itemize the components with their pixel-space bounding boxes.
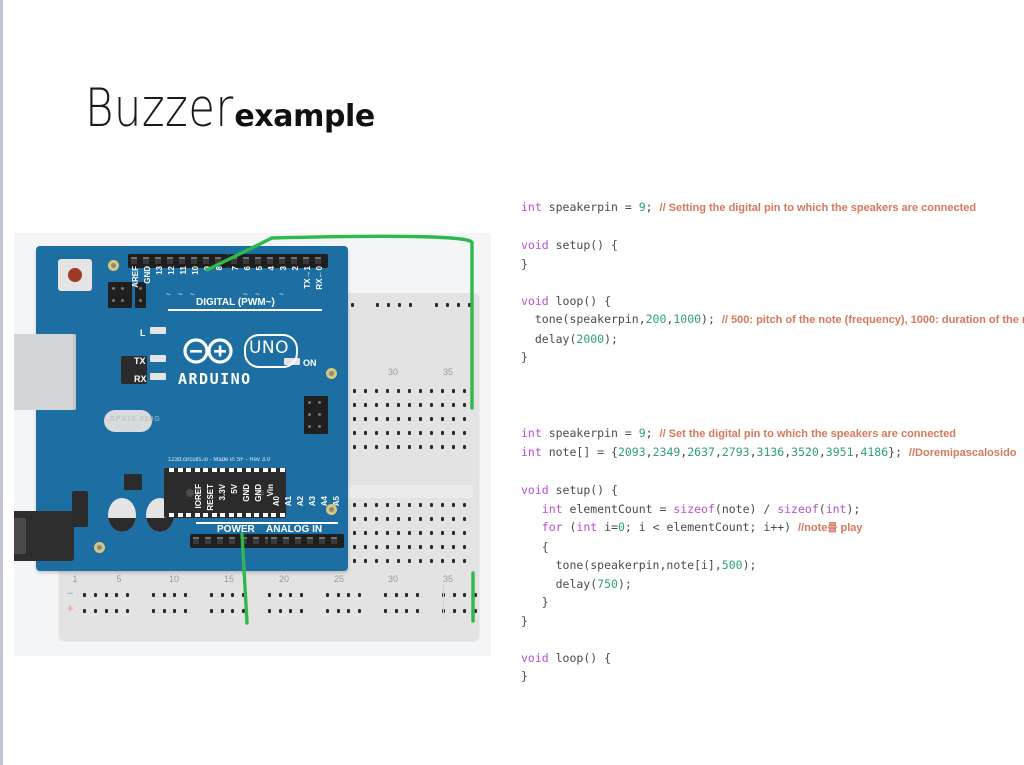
pin-label-a5: A5 [332,496,341,506]
breadboard-hole [94,609,97,613]
breadboard-hole [152,609,155,613]
breadboard-hole [468,303,471,307]
code-token: //Doremipascalosido [909,447,1017,459]
mcu-leg [237,513,242,517]
breadboard-hole [300,609,303,613]
mounting-hole [108,260,119,271]
breadboard-hole [397,517,400,521]
mcu-leg [229,468,234,472]
code-token: } [521,669,528,683]
breadboard-hole [408,503,411,507]
led-label-l: L [140,328,146,338]
breadboard-hole [441,417,444,421]
breadboard-hole [441,445,444,449]
code-line: for (int i=0; i < elementCount; i++) //n… [521,518,1021,538]
title-main-text: Buzzer [85,78,234,139]
mcu-leg [195,513,200,517]
mcu-leg [186,513,191,517]
code-token: 0 [618,520,625,534]
code-line: } [521,348,1021,367]
pin-label-gnd: GND [143,266,152,284]
code-token: loop() { [549,294,611,308]
breadboard-hole [364,559,367,563]
code-token: 2000 [576,332,604,346]
page-title: Buzzerexample [85,78,375,139]
code-token: // Setting the digital pin to which the … [660,202,977,214]
code-token: , [819,445,826,459]
rail-plus-mark: + [67,604,73,615]
breadboard-hole [353,445,356,449]
breadboard-hole [358,593,361,597]
pin-label-a0: A0 [272,496,281,506]
breadboard-hole [353,389,356,393]
mcu-leg [220,468,225,472]
mcu-leg [263,513,268,517]
breadboard-hole [173,609,176,613]
code-token: void [521,294,549,308]
breadboard-hole [386,545,389,549]
code-token: //note를 play [798,522,863,534]
code-token: setup() { [549,483,618,497]
header-pin [253,537,259,544]
code-token [521,502,542,516]
code-token: , [715,445,722,459]
header-pin [279,257,285,264]
crystal-label: SPX16.000G [110,416,161,423]
digital-group-line [168,309,322,311]
code-token: for [542,520,563,534]
pin-label-4: 4 [267,266,276,270]
breadboard-hole [376,303,379,307]
pin-label-3: 3 [279,266,288,270]
mcu-leg [237,468,242,472]
breadboard-hole [353,531,356,535]
mcu-leg [169,468,174,472]
code-line: void loop() { [521,649,1021,668]
code-token: sizeof [777,502,819,516]
code-line: } [521,593,1021,612]
breadboard-hole [416,593,419,597]
breadboard-hole [408,431,411,435]
breadboard-hole [441,559,444,563]
breadboard-hole [375,431,378,435]
breadboard-hole [268,609,271,613]
breadboard-hole [408,545,411,549]
breadboard-hole [419,417,422,421]
pin-label-5v: 5V [230,484,239,494]
breadboard-hole [419,517,422,521]
breadboard-hole [430,517,433,521]
code-token: 1000 [673,312,701,326]
breadboard-hole [386,403,389,407]
header-pin [203,257,209,264]
breadboard-hole [289,593,292,597]
header-pin [167,257,173,264]
code-line: void loop() { [521,292,1021,311]
breadboard-hole [408,559,411,563]
code-line: void setup() { [521,236,1021,255]
pin-label-a2: A2 [296,496,305,506]
code-token: 2349 [653,445,681,459]
pin-label-a1: A1 [284,496,293,506]
breadboard-hole [375,389,378,393]
breadboard-hole [173,593,176,597]
breadboard-hole [452,503,455,507]
breadboard-number: 20 [279,574,289,584]
breadboard-hole [419,545,422,549]
code-token: elementCount = [563,502,674,516]
header-pin [229,537,235,544]
breadboard-hole [375,545,378,549]
breadboard-hole [386,503,389,507]
breadboard-hole [408,445,411,449]
mcu-leg [246,513,251,517]
mcu-leg [212,513,217,517]
breadboard-hole [446,303,449,307]
breadboard-number: 10 [169,574,179,584]
breadboard-hole [463,417,466,421]
mounting-hole [94,542,105,553]
pwm-tilde-mark: ~ [178,290,183,299]
breadboard-hole [386,389,389,393]
breadboard-hole [347,593,350,597]
code-token: int [542,502,563,516]
code-token: ; i < elementCount; i++) [625,520,798,534]
breadboard-hole [337,593,340,597]
code-token: ( [819,502,826,516]
pwm-tilde-mark: ~ [279,290,284,299]
breadboard-hole [375,531,378,535]
breadboard-hole [126,593,129,597]
pin-label-2: 2 [291,266,300,270]
code-token: setup() { [549,238,618,252]
code-token: int [521,200,542,214]
breadboard-number: 1 [72,574,77,584]
breadboard-hole [386,445,389,449]
header-pin [155,257,161,264]
breadboard-hole [419,445,422,449]
header-pin [231,257,237,264]
breadboard-hole [457,303,460,307]
breadboard-hole [375,503,378,507]
breadboard-hole [347,609,350,613]
code-line: tone(speakerpin,200,1000); // 500: pitch… [521,310,1021,330]
arduino-wordmark: ARDUINO [178,370,252,388]
breadboard-hole [463,431,466,435]
code-token: int [576,520,597,534]
code-token: (note) / [715,502,777,516]
header-pin [315,257,321,264]
breadboard-hole [83,593,86,597]
breadboard-hole [463,559,466,563]
breadboard-hole [419,559,422,563]
mcu-leg [229,513,234,517]
breadboard-hole [397,445,400,449]
led-label-on: ON [303,358,317,368]
header-pin [243,257,249,264]
header-pin [179,257,185,264]
code-line: int speakerpin = 9; // Set the digital p… [521,424,1021,444]
breadboard-hole [435,303,438,307]
tx-led [150,355,166,362]
header-pin [131,257,137,264]
code-token: , [646,445,653,459]
breadboard-hole [386,531,389,535]
breadboard-hole [441,517,444,521]
breadboard-hole [386,431,389,435]
pin-label-33v: 3.3V [218,484,227,500]
arduino-uno-board: SPX16.000G 123d.circuits.io - Made in SF… [36,246,348,571]
breadboard-hole [463,403,466,407]
slide-canvas: Buzzerexample 123D 151015202530351510152… [0,0,1024,765]
code-token: int [521,445,542,459]
breadboard-hole [386,559,389,563]
breadboard-hole [210,609,213,613]
breadboard-hole [397,417,400,421]
code-token: 4186 [860,445,888,459]
code-line [521,463,1021,482]
breadboard-hole [408,403,411,407]
code-line: delay(750); [521,575,1021,594]
code-token: loop() { [549,651,611,665]
breadboard-hole [419,403,422,407]
code-token: ); [701,312,722,326]
breadboard-hole [231,609,234,613]
breadboard-hole [353,503,356,507]
breadboard-number: 5 [116,574,121,584]
code-token: 750 [597,577,618,591]
breadboard-hole [397,503,400,507]
code-line: } [521,612,1021,631]
reset-button-cap[interactable] [68,268,82,282]
code-token: ); [846,502,860,516]
header-pin [271,537,277,544]
breadboard-hole [452,517,455,521]
breadboard-hole [83,609,86,613]
breadboard-hole [408,531,411,535]
code-listing: int speakerpin = 9; // Setting the digit… [521,198,1021,686]
breadboard-hole [452,403,455,407]
breadboard-hole [115,609,118,613]
code-token: // 500: pitch of the note (frequency), 1… [722,314,1024,326]
breadboard-hole [353,559,356,563]
code-token: } [521,257,528,271]
breadboard-hole [300,593,303,597]
pin-label-a3: A3 [308,496,317,506]
header-pin [295,537,301,544]
code-block-1: int speakerpin = 9; // Setting the digit… [521,198,1021,367]
breadboard-hole [221,609,224,613]
code-token: ); [618,577,632,591]
uno-badge-text: UNO [244,338,294,358]
code-token: 200 [646,312,667,326]
code-token: int [826,502,847,516]
breadboard-hole [419,503,422,507]
l-led [150,327,166,334]
breadboard-number: 35 [443,367,453,377]
code-block-2: int speakerpin = 9; // Set the digital p… [521,424,1021,686]
breadboard-hole [441,403,444,407]
breadboard-hole [430,403,433,407]
code-token: 9 [639,200,646,214]
breadboard-hole [105,593,108,597]
header-pin [241,537,247,544]
code-token: speakerpin = [542,426,639,440]
code-token [521,520,542,534]
code-token: , [750,445,757,459]
pin-label-5: 5 [255,266,264,270]
breadboard-hole [463,445,466,449]
code-token: ; [646,200,660,214]
pin-label-reset: RESET [206,484,215,511]
code-token: ( [563,520,577,534]
rx-led [150,373,166,380]
breadboard-hole [453,609,456,613]
breadboard-hole [353,517,356,521]
header-pin [331,537,337,544]
circuit-diagram-image: 123D 1510152025303515101520253035 −+ [14,233,491,656]
breadboard-hole [397,559,400,563]
pwm-tilde-mark: ~ [166,290,171,299]
breadboard-hole [452,445,455,449]
breadboard-hole [405,593,408,597]
code-line: int speakerpin = 9; // Setting the digit… [521,198,1021,218]
code-token: i= [597,520,618,534]
code-line [521,273,1021,292]
breadboard-hole [430,531,433,535]
breadboard-hole [163,609,166,613]
breadboard-hole [398,303,401,307]
code-line: } [521,667,1021,686]
breadboard-hole [353,431,356,435]
code-token: 3520 [791,445,819,459]
pin-label-tx1: TX→1 [303,266,312,289]
breadboard-hole [441,545,444,549]
breadboard-hole [386,417,389,421]
mcu-leg [254,513,259,517]
mcu-leg [186,468,191,472]
code-line: int note[] = {2093,2349,2637,2793,3136,3… [521,443,1021,463]
code-token: tone(speakerpin,note[i], [521,558,722,572]
breadboard-hole [94,593,97,597]
breadboard-hole [441,531,444,535]
mcu-leg [220,513,225,517]
breadboard-hole [463,389,466,393]
code-token: 9 [639,426,646,440]
small-ic [124,474,142,490]
breadboard-hole [397,403,400,407]
code-token: void [521,651,549,665]
breadboard-hole [152,593,155,597]
code-token: 2793 [722,445,750,459]
digital-group-label: DIGITAL (PWM~) [196,297,275,308]
breadboard-hole [430,417,433,421]
breadboard-hole [453,593,456,597]
code-token: 2093 [618,445,646,459]
code-token: void [521,483,549,497]
mcu-leg [178,468,183,472]
pin-label-aref: AREF [131,266,140,288]
breadboard-hole [364,503,367,507]
breadboard-hole [441,431,444,435]
breadboard-hole [441,389,444,393]
breadboard-hole [364,517,367,521]
mcu-leg [246,468,251,472]
code-token: sizeof [673,502,715,516]
breadboard-hole [351,303,354,307]
code-token: 500 [722,558,743,572]
header-pin [255,257,261,264]
breadboard-hole [452,531,455,535]
pin-label-10: 10 [191,266,200,275]
mcu-leg [203,468,208,472]
breadboard-hole [242,593,245,597]
header-pin [307,537,313,544]
breadboard-hole [358,609,361,613]
breadboard-hole [364,431,367,435]
breadboard-hole [430,431,433,435]
usb-connector [14,334,76,410]
breadboard-hole [419,389,422,393]
code-token: void [521,238,549,252]
header-pin [191,257,197,264]
pin-label-7: 7 [231,266,240,270]
title-sub-text: example [234,99,375,134]
breadboard-hole [409,303,412,307]
pin-label-gnd: GND [254,484,263,502]
analog-header [268,534,344,548]
breadboard-hole [430,389,433,393]
breadboard-hole [397,431,400,435]
pin-label-a4: A4 [320,496,329,506]
code-token: } [521,350,528,364]
mcu-leg [178,513,183,517]
breadboard-hole [408,517,411,521]
breadboard-hole [452,545,455,549]
breadboard-hole [408,389,411,393]
pin-label-12: 12 [167,266,176,275]
breadboard-hole [397,545,400,549]
breadboard-hole [430,445,433,449]
breadboard-hole [405,609,408,613]
code-token: ); [743,558,757,572]
code-token: 3136 [757,445,785,459]
breadboard-hole [430,503,433,507]
header-pin [193,537,199,544]
mcu-leg [254,468,259,472]
led-label-tx: TX [134,356,146,366]
header-pin [283,537,289,544]
mcu-leg [280,513,285,517]
pin-label-11: 11 [179,266,188,274]
breadboard-hole [375,403,378,407]
rail-divider [443,585,444,619]
breadboard-hole [210,593,213,597]
icsp2-header [108,282,132,308]
breadboard-hole [395,593,398,597]
capacitor [108,498,136,532]
code-token: delay( [521,332,576,346]
breadboard-hole [163,593,166,597]
code-token: } [521,614,528,628]
breadboard-hole [364,403,367,407]
breadboard-hole [337,609,340,613]
mcu-leg [203,513,208,517]
pin-label-vin: Vin [266,484,275,496]
pin-label-rx0: RX←0 [315,266,324,290]
code-token: ; [646,426,660,440]
breadboard-hole [375,559,378,563]
